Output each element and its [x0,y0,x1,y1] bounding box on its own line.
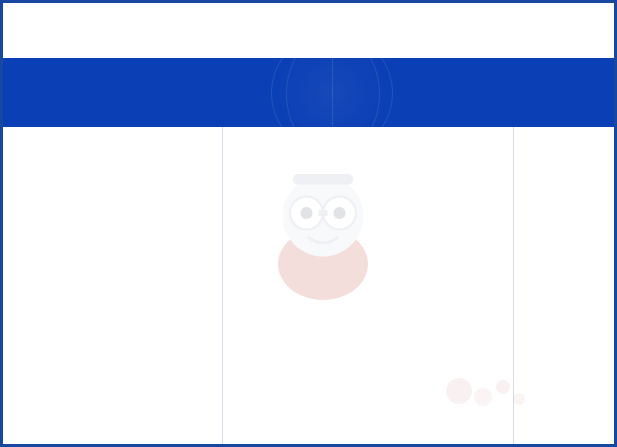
column-divider [222,127,223,444]
page-title [3,3,614,58]
infographic-table-root [0,0,617,447]
globe-decoration-icon [271,58,393,127]
title-line-1 [3,3,614,5]
table-header [3,58,614,127]
table-body [3,127,614,444]
column-divider [513,127,514,444]
